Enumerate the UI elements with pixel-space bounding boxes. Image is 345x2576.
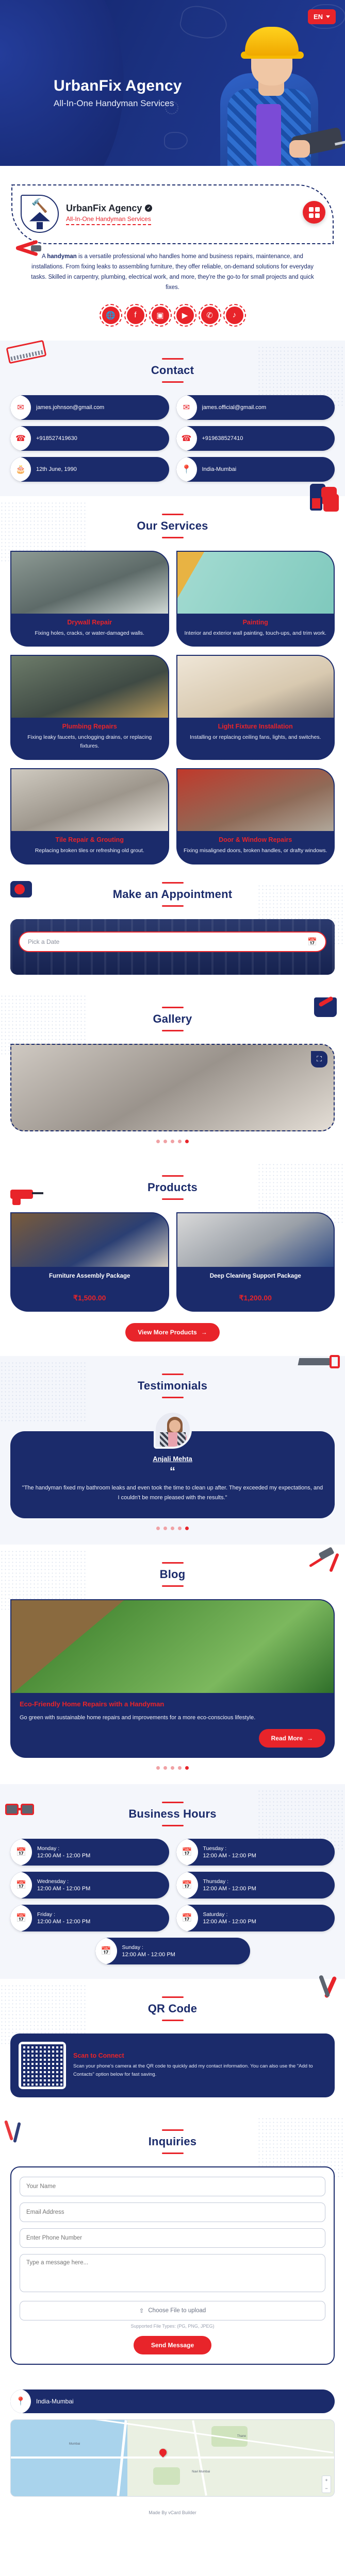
pagination-dot[interactable]	[156, 1527, 160, 1530]
business-hours-time: 12:00 AM - 12:00 PM	[37, 1919, 90, 1925]
section-rule	[162, 2020, 184, 2021]
qr-section: QR Code Scan to Connect Scan your phone'…	[0, 1979, 345, 2112]
service-title: Painting	[184, 619, 328, 626]
footer: Made By vCard Builder	[0, 2502, 345, 2524]
language-label: EN	[314, 13, 323, 21]
social-links: 🌐 f ▣ ▶ ✆ ♪	[11, 297, 334, 337]
testimonials-pagination	[10, 1518, 335, 1530]
view-more-products-label: View More Products	[138, 1329, 196, 1336]
product-card[interactable]: Furniture Assembly Package ₹1,500.00	[10, 1212, 169, 1312]
service-desc: Fixing misaligned doors, broken handles,…	[184, 846, 328, 855]
service-title: Light Fixture Installation	[184, 723, 328, 730]
business-hours-time: 12:00 AM - 12:00 PM	[203, 1919, 256, 1925]
pliers-icon	[15, 241, 44, 257]
business-hours-time: 12:00 AM - 12:00 PM	[203, 1853, 256, 1859]
vcard-page: EN UrbanFix Agency All-In-One Handyman S…	[0, 0, 345, 2524]
contact-item-location[interactable]: 📍 India-Mumbai	[176, 457, 335, 482]
arrow-right-icon: →	[307, 1735, 313, 1742]
map-section: 📍 India-Mumbai Mumbai Navi Mumbai Thane …	[0, 2379, 345, 2502]
contact-title: Contact	[10, 364, 335, 377]
contact-value: james.official@gmail.com	[202, 404, 267, 411]
products-grid: Furniture Assembly Package ₹1,500.00 Dee…	[10, 1212, 335, 1312]
service-image	[11, 552, 168, 614]
date-picker-field[interactable]: Pick a Date 📅	[19, 931, 326, 952]
language-selector-button[interactable]: EN	[308, 9, 336, 24]
contact-item-phone-2[interactable]: ☎ +919638527410	[176, 426, 335, 451]
name-input[interactable]	[20, 2177, 325, 2196]
blog-image	[11, 1600, 334, 1693]
calendar-clock-icon: 📅	[10, 1872, 32, 1899]
service-card[interactable]: Drywall Repair Fixing holes, cracks, or …	[10, 551, 169, 647]
pagination-dot[interactable]	[178, 1766, 182, 1770]
company-logo: 🔨	[21, 195, 59, 233]
file-type-hint: Supported File Types: (PG, PNG, JPEG)	[20, 2324, 325, 2329]
blog-post-desc: Go green with sustainable home repairs a…	[20, 1713, 325, 1723]
business-hours-row: 📅 Monday : 12:00 AM - 12:00 PM	[10, 1839, 169, 1866]
map-location-pill[interactable]: 📍 India-Mumbai	[10, 2389, 335, 2413]
section-rule	[162, 1825, 184, 1826]
business-hours-time: 12:00 AM - 12:00 PM	[203, 1886, 256, 1892]
pagination-dot[interactable]	[163, 1766, 167, 1770]
business-hours-time: 12:00 AM - 12:00 PM	[122, 1952, 175, 1958]
business-hours-day: Monday :	[37, 1845, 90, 1852]
product-name: Furniture Assembly Package	[17, 1272, 163, 1289]
calendar-icon[interactable]: 📅	[307, 937, 317, 946]
section-rule	[162, 1397, 184, 1398]
map-zoom-controls[interactable]: +−	[322, 2476, 331, 2493]
read-more-label: Read More	[271, 1735, 303, 1742]
service-title: Tile Repair & Grouting	[18, 836, 162, 843]
about-bold-word: handyman	[47, 253, 77, 260]
section-rule	[162, 381, 184, 383]
contact-value: +919638527410	[202, 435, 243, 442]
business-hours-title: Business Hours	[10, 1807, 335, 1821]
house-roof-icon	[29, 212, 50, 222]
section-rule	[162, 1562, 184, 1564]
qr-title: QR Code	[10, 2002, 335, 2015]
location-pin-icon: 📍	[10, 2389, 31, 2413]
gallery-pagination	[10, 1131, 335, 1143]
mail-icon: ✉	[176, 395, 197, 420]
qr-description: Scan your phone's camera at the QR code …	[73, 2062, 326, 2078]
service-image	[177, 656, 334, 718]
contact-section: Contact ✉ james.johnson@gmail.com ✉ jame…	[0, 341, 345, 496]
hammer-wrench-icon: 🔨	[29, 199, 50, 212]
pagination-dot[interactable]	[171, 1766, 174, 1770]
about-block: A handyman is a versatile professional w…	[11, 244, 334, 297]
section-rule	[162, 2153, 184, 2154]
date-placeholder: Pick a Date	[28, 938, 59, 945]
product-name: Deep Cleaning Support Package	[183, 1272, 329, 1289]
testimonial-text: "The handyman fixed my bathroom leaks an…	[22, 1483, 323, 1503]
map-road	[11, 2456, 334, 2459]
section-rule	[162, 905, 184, 907]
contact-grid: ✉ james.johnson@gmail.com ✉ james.offici…	[10, 395, 335, 482]
appointment-title: Make an Appointment	[10, 888, 335, 901]
calendar-clock-icon: 📅	[10, 1905, 32, 1931]
section-rule	[162, 1374, 184, 1375]
send-message-button[interactable]: Send Message	[134, 2336, 211, 2354]
pagination-dot[interactable]	[171, 1527, 174, 1530]
business-hours-grid: 📅 Monday : 12:00 AM - 12:00 PM 📅 Tuesday…	[10, 1839, 335, 1931]
contact-value: james.johnson@gmail.com	[36, 404, 104, 411]
location-pin-icon: 📍	[176, 457, 197, 482]
profile-card: 🔨 UrbanFix Agency ✓ All-In-One Handyman …	[11, 184, 334, 244]
read-more-button[interactable]: Read More →	[259, 1729, 325, 1748]
products-title: Products	[10, 1181, 335, 1194]
profile-tagline: All-In-One Handyman Services	[66, 215, 151, 225]
hero-title: UrbanFix Agency	[54, 77, 345, 95]
blog-section: Blog Eco-Friendly Home Repairs with a Ha…	[0, 1545, 345, 1784]
gallery-section: Gallery ⛶	[0, 989, 345, 1158]
globe-icon[interactable]: 🌐	[102, 307, 120, 324]
service-title: Door & Window Repairs	[184, 836, 328, 843]
services-title: Our Services	[10, 519, 335, 533]
pagination-dot[interactable]	[171, 1140, 174, 1143]
qr-code-icon	[309, 207, 320, 218]
house-window-icon	[37, 222, 43, 229]
tiktok-icon[interactable]: ♪	[226, 307, 243, 324]
product-card[interactable]: Deep Cleaning Support Package ₹1,200.00	[176, 1212, 335, 1312]
phone-icon: ☎	[10, 426, 31, 451]
gloves-icon	[310, 493, 342, 516]
youtube-icon[interactable]: ▶	[176, 307, 194, 324]
section-rule	[162, 1007, 184, 1008]
about-text: A handyman is a versatile professional w…	[25, 251, 320, 293]
whatsapp-icon[interactable]: ✆	[201, 307, 219, 324]
upload-icon: ⇧	[139, 2307, 144, 2314]
product-price: ₹1,500.00	[17, 1294, 163, 1302]
contact-value: +918527419630	[36, 435, 77, 442]
business-hours-day: Wednesday :	[37, 1878, 90, 1885]
section-rule	[162, 2129, 184, 2131]
contact-value: India-Mumbai	[202, 466, 237, 472]
map-label: Thane	[237, 2435, 246, 2438]
phone-input[interactable]	[20, 2228, 325, 2248]
inquiry-form: ⇧ Choose File to upload Supported File T…	[10, 2166, 335, 2365]
service-image	[11, 656, 168, 718]
product-image	[11, 1213, 168, 1267]
service-card[interactable]: Tile Repair & Grouting Replacing broken …	[10, 768, 169, 865]
inquiries-title: Inquiries	[10, 2135, 335, 2148]
service-image	[11, 769, 168, 831]
expand-icon[interactable]: ⛶	[311, 1051, 327, 1067]
service-card[interactable]: Light Fixture Installation Installing or…	[176, 655, 335, 760]
contact-item-phone-1[interactable]: ☎ +918527419630	[10, 426, 169, 451]
phone-icon: ☎	[176, 426, 197, 451]
business-hours-day: Tuesday :	[203, 1845, 256, 1852]
business-hours-day: Friday :	[37, 1911, 90, 1918]
pagination-dot[interactable]	[156, 1766, 160, 1770]
business-hours-day: Saturday :	[203, 1911, 256, 1918]
service-card[interactable]: Door & Window Repairs Fixing misaligned …	[176, 768, 335, 865]
footer-text: Made By vCard Builder	[149, 2510, 196, 2515]
services-grid: Drywall Repair Fixing holes, cracks, or …	[10, 551, 335, 865]
handsaw-icon	[299, 1355, 340, 1369]
service-title: Plumbing Repairs	[18, 723, 162, 730]
decorative-blob-icon	[164, 132, 188, 149]
pagination-dot-active[interactable]	[185, 1140, 189, 1143]
qr-card: Scan to Connect Scan your phone's camera…	[10, 2033, 335, 2097]
qr-code-image[interactable]	[19, 2042, 66, 2089]
inquiries-section: Inquiries ⇧ Choose File to upload Suppor…	[0, 2112, 345, 2379]
business-hours-row-sunday: 📅 Sunday : 12:00 AM - 12:00 PM	[95, 1938, 250, 1964]
service-card[interactable]: Painting Interior and exterior wall pain…	[176, 551, 335, 647]
section-rule	[162, 1030, 184, 1031]
facebook-icon[interactable]: f	[127, 307, 144, 324]
testimonials-section: Testimonials Anjali Mehta “ "The handyma…	[0, 1356, 345, 1545]
business-hours-section: Business Hours 📅 Monday : 12:00 AM - 12:…	[0, 1784, 345, 1979]
mail-icon: ✉	[10, 395, 31, 420]
business-hours-day: Sunday :	[122, 1944, 175, 1951]
service-desc: Fixing holes, cracks, or water-damaged w…	[18, 629, 162, 638]
section-rule	[162, 1996, 184, 1998]
business-hours-row: 📅 Friday : 12:00 AM - 12:00 PM	[10, 1905, 169, 1931]
service-desc: Fixing leaky faucets, unclogging drains,…	[18, 733, 162, 751]
business-hours-day: Thursday :	[203, 1878, 256, 1885]
service-image	[177, 552, 334, 614]
section-rule	[162, 514, 184, 515]
chevron-down-icon	[326, 15, 330, 18]
business-hours-row: 📅 Saturday : 12:00 AM - 12:00 PM	[176, 1905, 335, 1931]
appointment-section: Make an Appointment Pick a Date 📅	[0, 879, 345, 989]
section-rule	[162, 1802, 184, 1803]
section-rule	[162, 1198, 184, 1200]
qr-code-button[interactable]	[303, 201, 325, 224]
gallery-title: Gallery	[10, 1012, 335, 1026]
pagination-dot[interactable]	[178, 1140, 182, 1143]
file-upload-label: Choose File to upload	[148, 2308, 206, 2314]
blog-post-title: Eco-Friendly Home Repairs with a Handyma…	[20, 1700, 325, 1708]
pagination-dot[interactable]	[163, 1527, 167, 1530]
testimonial-author: Anjali Mehta	[22, 1455, 323, 1463]
profile-section: 🔨 UrbanFix Agency ✓ All-In-One Handyman …	[0, 166, 345, 341]
gallery-image[interactable]	[10, 1044, 335, 1131]
blog-title: Blog	[10, 1568, 335, 1581]
product-price: ₹1,200.00	[183, 1294, 329, 1302]
blog-pagination	[10, 1758, 335, 1770]
profile-name: UrbanFix Agency	[66, 203, 142, 214]
calendar-clock-icon: 📅	[176, 1905, 198, 1931]
testimonials-title: Testimonials	[10, 1379, 335, 1393]
section-rule	[162, 1585, 184, 1587]
service-image	[177, 769, 334, 831]
hero-subtitle: All-In-One Handyman Services	[54, 98, 345, 109]
quote-mark-icon: “	[22, 1466, 323, 1477]
calendar-clock-icon: 📅	[176, 1872, 198, 1899]
verified-badge-icon: ✓	[145, 205, 152, 212]
business-hours-row: 📅 Tuesday : 12:00 AM - 12:00 PM	[176, 1839, 335, 1866]
contact-item-email-1[interactable]: ✉ james.johnson@gmail.com	[10, 395, 169, 420]
service-desc: Replacing broken tiles or refreshing old…	[18, 846, 162, 855]
business-hours-time: 12:00 AM - 12:00 PM	[37, 1853, 90, 1859]
service-title: Drywall Repair	[18, 619, 162, 626]
services-section: Our Services Drywall Repair Fixing holes…	[0, 496, 345, 879]
map-label: Mumbai	[69, 2443, 80, 2446]
calendar-clock-icon: 📅	[10, 1839, 32, 1866]
products-section: Products Furniture Assembly Package ₹1,5…	[0, 1158, 345, 1356]
email-input[interactable]	[20, 2202, 325, 2222]
business-hours-time: 12:00 AM - 12:00 PM	[37, 1886, 90, 1892]
avatar	[154, 1411, 192, 1449]
arrow-right-icon: →	[201, 1329, 207, 1336]
pagination-dot[interactable]	[156, 1140, 160, 1143]
appointment-card: Pick a Date 📅	[10, 919, 335, 975]
contact-value: 12th June, 1990	[36, 466, 77, 472]
pagination-dot[interactable]	[163, 1140, 167, 1143]
calendar-clock-icon: 📅	[95, 1938, 117, 1964]
pagination-dot-active[interactable]	[185, 1766, 189, 1770]
hero-banner: EN UrbanFix Agency All-In-One Handyman S…	[0, 0, 345, 166]
section-rule	[162, 537, 184, 538]
file-upload-button[interactable]: ⇧ Choose File to upload	[20, 2301, 325, 2320]
map-park	[153, 2467, 180, 2485]
map-embed[interactable]: Mumbai Navi Mumbai Thane +−	[10, 2419, 335, 2497]
service-card[interactable]: Plumbing Repairs Fixing leaky faucets, u…	[10, 655, 169, 760]
service-desc: Installing or replacing ceiling fans, li…	[184, 733, 328, 742]
section-rule	[162, 1175, 184, 1177]
message-textarea[interactable]	[20, 2254, 325, 2292]
product-image	[177, 1213, 334, 1267]
view-more-products-button[interactable]: View More Products →	[125, 1323, 219, 1342]
blog-card[interactable]: Eco-Friendly Home Repairs with a Handyma…	[10, 1599, 335, 1758]
service-desc: Interior and exterior wall painting, tou…	[184, 629, 328, 638]
business-hours-row: 📅 Thursday : 12:00 AM - 12:00 PM	[176, 1872, 335, 1899]
business-hours-row: 📅 Wednesday : 12:00 AM - 12:00 PM	[10, 1872, 169, 1899]
contact-item-email-2[interactable]: ✉ james.official@gmail.com	[176, 395, 335, 420]
contact-item-birthday[interactable]: 🎂 12th June, 1990	[10, 457, 169, 482]
pagination-dot[interactable]	[178, 1527, 182, 1530]
qr-heading: Scan to Connect	[73, 2052, 326, 2059]
calendar-clock-icon: 📅	[176, 1839, 198, 1866]
instagram-icon[interactable]: ▣	[152, 307, 169, 324]
pagination-dot-active[interactable]	[185, 1527, 189, 1530]
section-rule	[162, 358, 184, 360]
map-label: Navi Mumbai	[192, 2470, 210, 2473]
map-location-label: India-Mumbai	[36, 2398, 74, 2405]
section-rule	[162, 882, 184, 884]
cake-icon: 🎂	[10, 457, 31, 482]
